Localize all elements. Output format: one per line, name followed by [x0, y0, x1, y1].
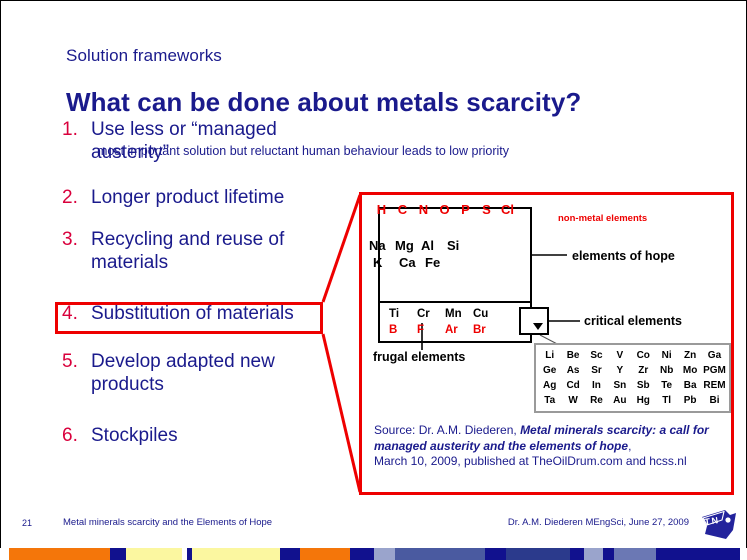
critical-element: Co: [632, 348, 655, 363]
strip-segment-10: [374, 548, 395, 560]
label-critical-elements: critical elements: [584, 314, 682, 328]
strip-segment-0: [0, 548, 9, 560]
decorative-color-strip: [0, 548, 747, 560]
list-item-2-label: Longer product lifetime: [91, 186, 284, 209]
element-Si: Si: [447, 238, 473, 253]
down-arrow-icon: [533, 323, 543, 330]
list-item-1-number: 1.: [62, 118, 82, 141]
frugal-elements-row-1: Ti Cr Mn Cu: [389, 308, 501, 320]
footer-deck-title: Metal minerals scarcity and the Elements…: [63, 517, 272, 528]
critical-element: Au: [608, 393, 631, 408]
list-item-2-number: 2.: [62, 186, 82, 209]
list-item-5[interactable]: 5. Develop adapted new products: [62, 350, 302, 396]
footer-author: Dr. A.M. Diederen MEngSci, June 27, 2009: [508, 517, 689, 528]
slide-eyebrow: Solution frameworks: [66, 46, 222, 66]
element-O: O: [434, 202, 455, 217]
svg-text:N: N: [711, 515, 719, 526]
critical-element: REM: [702, 378, 727, 393]
element-Ti: Ti: [389, 308, 417, 320]
critical-element: Mo: [678, 363, 702, 378]
element-K: K: [373, 255, 399, 270]
critical-element: Re: [585, 393, 608, 408]
element-Ar: Ar: [445, 324, 473, 336]
critical-element: Ag: [538, 378, 561, 393]
list-item-6-number: 6.: [62, 424, 82, 447]
critical-element: Be: [561, 348, 584, 363]
critical-element: Zn: [678, 348, 702, 363]
critical-elements-marker-box: [519, 307, 549, 335]
slide-number: 21: [22, 518, 32, 528]
label-non-metal-elements: non-metal elements: [558, 213, 647, 224]
highlight-box-item-4: [55, 302, 323, 334]
strip-segment-8: [300, 548, 350, 560]
element-Al: Al: [421, 238, 447, 253]
critical-element: Li: [538, 348, 561, 363]
element-Fe: Fe: [425, 255, 451, 270]
critical-element: Ni: [655, 348, 678, 363]
strip-segment-15: [584, 548, 603, 560]
element-H: H: [371, 202, 392, 217]
elements-of-hope-row-1: Na Mg Al Si: [369, 238, 473, 253]
critical-element: Zr: [632, 363, 655, 378]
list-item-2[interactable]: 2. Longer product lifetime: [62, 186, 352, 209]
critical-element: Ga: [702, 348, 727, 363]
page-title: What can be done about metals scarcity?: [66, 87, 581, 118]
critical-element: Cd: [561, 378, 584, 393]
source-citation: Source: Dr. A.M. Diederen, Metal mineral…: [374, 423, 724, 470]
element-Cu: Cu: [473, 308, 501, 320]
element-Ca: Ca: [399, 255, 425, 270]
critical-element: Bi: [702, 393, 727, 408]
strip-segment-17: [614, 548, 656, 560]
list-item-3[interactable]: 3. Recycling and reuse of materials: [62, 228, 302, 274]
element-Mg: Mg: [395, 238, 421, 253]
critical-element: V: [608, 348, 631, 363]
element-Cr: Cr: [417, 308, 445, 320]
tno-logo-icon: T N: [699, 508, 739, 542]
source-prefix: Source: Dr. A.M. Diederen,: [374, 423, 520, 437]
strip-segment-13: [506, 548, 570, 560]
list-item-1-subtext: most important solution but reluctant hu…: [97, 144, 509, 159]
critical-elements-table: Li Be Sc V Co Ni Zn Ga Ge As Sr Y: [534, 343, 731, 413]
non-metal-elements-row: H C N O P S Cl: [371, 202, 518, 217]
critical-element: Ta: [538, 393, 561, 408]
element-Br: Br: [473, 324, 501, 336]
strip-segment-6: [192, 548, 280, 560]
critical-element: Y: [608, 363, 631, 378]
strip-segment-16: [603, 548, 614, 560]
strip-segment-18: [656, 548, 740, 560]
element-N: N: [413, 202, 434, 217]
frugal-elements-box: Ti Cr Mn Cu B F Ar Br: [378, 303, 532, 343]
strip-segment-19: [740, 548, 747, 560]
element-Cl: Cl: [497, 202, 518, 217]
element-Mn: Mn: [445, 308, 473, 320]
strip-segment-14: [570, 548, 584, 560]
source-publication: March 10, 2009, published at TheOilDrum.…: [374, 454, 687, 468]
list-item-6[interactable]: 6. Stockpiles: [62, 424, 302, 447]
element-Na: Na: [369, 238, 395, 253]
critical-element: PGM: [702, 363, 727, 378]
critical-element: W: [561, 393, 584, 408]
critical-element: Hg: [632, 393, 655, 408]
critical-element: Ba: [678, 378, 702, 393]
frugal-elements-row-2: B F Ar Br: [389, 324, 501, 336]
critical-element: As: [561, 363, 584, 378]
element-S: S: [476, 202, 497, 217]
strip-segment-2: [110, 548, 126, 560]
strip-segment-7: [280, 548, 299, 560]
table-row: Li Be Sc V Co Ni Zn Ga: [538, 348, 727, 363]
left-border: [0, 0, 1, 548]
critical-element: Sn: [608, 378, 631, 393]
critical-element: Sb: [632, 378, 655, 393]
element-F: F: [417, 324, 445, 336]
source-suffix: ,: [628, 439, 631, 453]
strip-segment-12: [485, 548, 506, 560]
strip-segment-1: [9, 548, 110, 560]
list-item-3-label: Recycling and reuse of materials: [91, 228, 302, 274]
label-elements-of-hope: elements of hope: [572, 249, 675, 263]
table-row: Ta W Re Au Hg Tl Pb Bi: [538, 393, 727, 408]
critical-element: Ge: [538, 363, 561, 378]
critical-element: Sr: [585, 363, 608, 378]
slide: Solution frameworks What can be done abo…: [0, 0, 747, 560]
element-P: P: [455, 202, 476, 217]
elements-of-hope-row-2: K Ca Fe: [373, 255, 451, 270]
table-row: Ge As Sr Y Zr Nb Mo PGM: [538, 363, 727, 378]
strip-segment-3: [126, 548, 182, 560]
strip-segment-9: [350, 548, 374, 560]
critical-element: Te: [655, 378, 678, 393]
critical-element: Pb: [678, 393, 702, 408]
list-item-3-number: 3.: [62, 228, 82, 251]
critical-element: In: [585, 378, 608, 393]
list-item-6-label: Stockpiles: [91, 424, 178, 447]
table-row: Ag Cd In Sn Sb Te Ba REM: [538, 378, 727, 393]
top-border: [0, 0, 747, 1]
element-B: B: [389, 324, 417, 336]
label-frugal-elements: frugal elements: [373, 350, 465, 364]
strip-segment-11: [395, 548, 485, 560]
diagram-panel: H C N O P S Cl Na Mg Al Si K Ca Fe Ti Cr…: [359, 192, 734, 495]
list-item-5-label: Develop adapted new products: [91, 350, 302, 396]
element-C: C: [392, 202, 413, 217]
list-item-5-number: 5.: [62, 350, 82, 373]
critical-element: Tl: [655, 393, 678, 408]
critical-element: Sc: [585, 348, 608, 363]
critical-element: Nb: [655, 363, 678, 378]
